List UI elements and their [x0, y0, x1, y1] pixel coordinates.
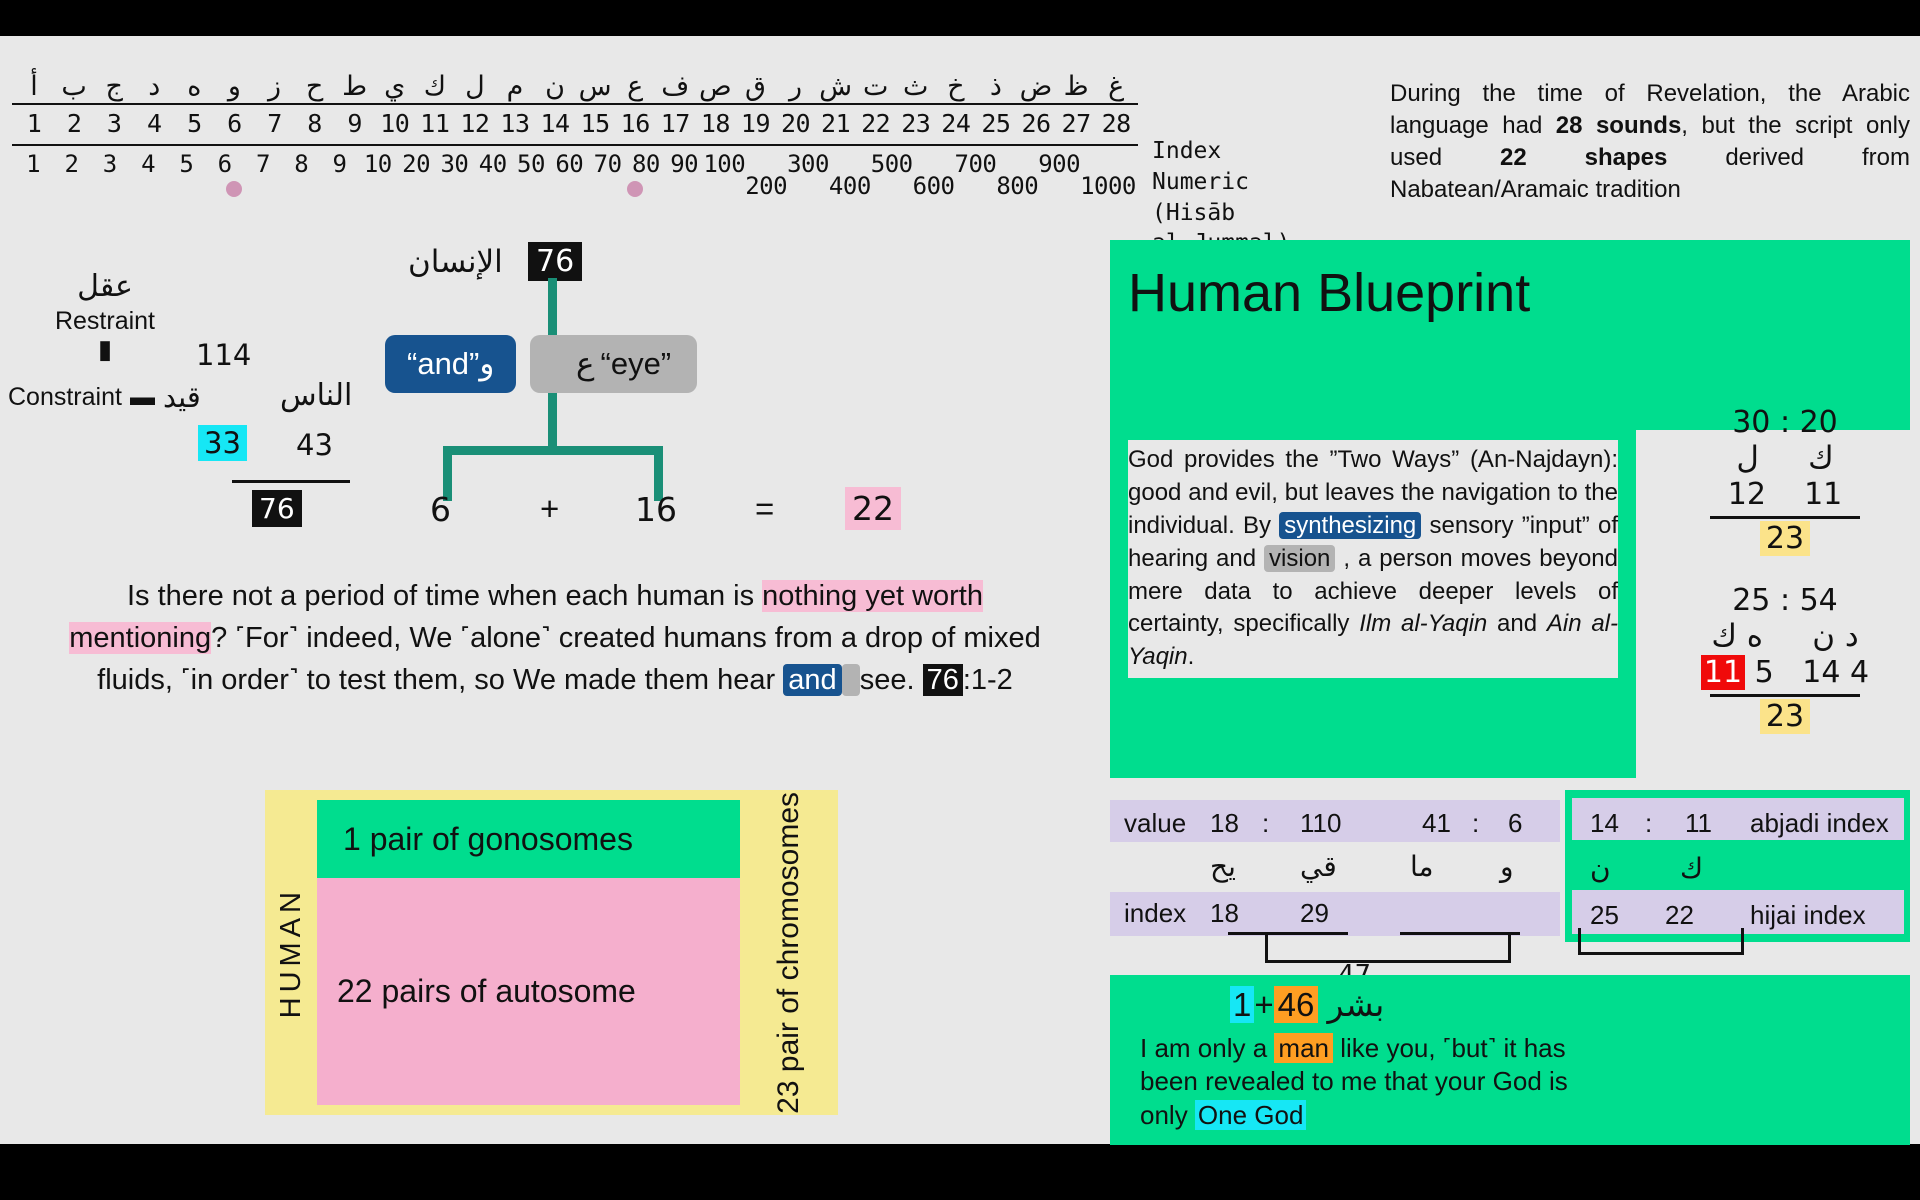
abjadi-index-label: abjadi index — [1750, 808, 1889, 839]
bottom-quote: I am only a man like you, ˹but˺ it has b… — [1140, 1032, 1610, 1132]
autosome-bar: 22 pairs of autosome — [317, 878, 740, 1105]
math-spacer — [1660, 557, 1910, 583]
mathblock2-values: 11 5 14 4 — [1660, 655, 1910, 690]
tree-equals-sign: = — [755, 490, 774, 528]
abjad-letter-1: ب — [54, 73, 94, 100]
restraint-label: Restraint — [10, 308, 200, 334]
sum-bracket-47 — [1265, 932, 1511, 963]
arabic-waw: و — [1500, 850, 1514, 883]
abjad-index-19: 20 — [775, 108, 815, 139]
abjad-index-18: 19 — [735, 108, 775, 139]
arabic-bashar: بشر — [1328, 985, 1385, 1024]
abjad-index-9: 10 — [375, 108, 415, 139]
arabic-nas: الناس — [280, 378, 352, 413]
abjad-index-16: 17 — [655, 108, 695, 139]
abjad-value-16: 80 — [627, 149, 665, 179]
abjad-letter-20: ش — [816, 73, 856, 100]
abjad-value-2: 3 — [91, 149, 129, 179]
legend-index-label: Index — [1152, 136, 1342, 167]
abjad-letter-14: س — [575, 73, 615, 100]
arabic-qaf-yaa: قي — [1300, 850, 1337, 883]
restraint-group: عقل Restraint ▮ — [10, 272, 200, 364]
abjad-letters-row: أبجدهوزحطيكلمنسعفصقرشتثخذضظغ — [10, 62, 1140, 100]
note-22-shapes: 22 shapes — [1500, 144, 1667, 171]
pill-eye-label: “eye” — [601, 346, 672, 381]
abjad-index-8: 9 — [335, 108, 375, 139]
abjad-letter-22: ث — [896, 73, 936, 100]
abjad-index-21: 22 — [856, 108, 896, 139]
body-part4: and — [1487, 610, 1547, 637]
constraint-label: Constraint — [8, 383, 122, 412]
blueprint-body-text: God provides the ”Two Ways” (An-Najdayn)… — [1128, 440, 1618, 678]
abjad-letter-15: ع — [615, 73, 655, 100]
abjad-value-0: 1 — [14, 149, 52, 179]
abjad-letter-2: ج — [94, 73, 134, 100]
abjad-value-26: 900 — [1038, 149, 1080, 179]
abjad-value-10: 20 — [397, 149, 435, 179]
pill-and[interactable]: “and”و — [385, 335, 516, 393]
abjad-letter-5: و — [214, 73, 254, 100]
abjad-index-12: 13 — [495, 108, 535, 139]
b1-colon: : — [1780, 405, 1790, 440]
chromosome-left-label: HUMAN — [265, 790, 317, 1115]
body-ilm-alyaqin: Ilm al-Yaqin — [1359, 610, 1487, 637]
verse-highlight-and: and — [783, 664, 841, 696]
abjad-value-7: 8 — [282, 149, 320, 179]
revelation-note: During the time of Revelation, the Arabi… — [1390, 78, 1910, 206]
abjad-index-6: 7 — [254, 108, 294, 139]
abjad-letter-3: د — [134, 73, 174, 100]
human-label: HUMAN — [275, 887, 308, 1018]
abjad-index-17: 18 — [695, 108, 735, 139]
abjad-value-15: 70 — [588, 149, 626, 179]
mathblock1-rule — [1710, 516, 1860, 519]
abjad-letter-21: ت — [856, 73, 896, 100]
tree-value-right: 16 — [635, 490, 677, 529]
abjad-letter-26: ظ — [1056, 73, 1096, 100]
mathblock2-top: 25 : 54 — [1660, 583, 1910, 618]
abjad-index-24: 25 — [976, 108, 1016, 139]
abjad-letter-9: ي — [375, 73, 415, 100]
tree-tag-76: 76 — [528, 242, 582, 281]
abjad-letter-10: ك — [415, 73, 455, 100]
arabic-maa: ما — [1410, 850, 1434, 883]
gonosome-bar: 1 pair of gonosomes — [317, 800, 740, 878]
mathblock1-arabic: ك ل — [1660, 440, 1910, 477]
abjad-index-4: 5 — [174, 108, 214, 139]
b1-top-left: 30 — [1732, 405, 1770, 440]
bashar-1: 1 — [1230, 986, 1254, 1023]
b1-top-right: 20 — [1800, 405, 1838, 440]
index-29: 29 — [1300, 898, 1329, 929]
chromosome-total-label: 23 pair of chromosomes — [772, 792, 806, 1114]
tree-stem-top — [548, 278, 557, 338]
abjad-index-26: 27 — [1056, 108, 1096, 139]
value-110: 110 — [1300, 808, 1341, 839]
top-black-bar — [0, 0, 1920, 36]
mathblock1-top: 30 : 20 — [1660, 405, 1910, 440]
abjad-numerology-table: أبجدهوزحطيكلمنسعفصقرشتثخذضظغ 12345678910… — [10, 62, 1140, 197]
infographic-canvas: أبجدهوزحطيكلمنسعفصقرشتثخذضظغ 12345678910… — [0, 0, 1920, 1200]
quote-highlight-onegod: One God — [1195, 1100, 1307, 1130]
abjad-letter-27: غ — [1096, 73, 1136, 100]
abjad-letter-24: ذ — [976, 73, 1016, 100]
abjad-letter-12: م — [495, 73, 535, 100]
hijai-bracket — [1578, 928, 1744, 955]
abjad-index-22: 23 — [896, 108, 936, 139]
value-6: 6 — [1508, 808, 1522, 839]
abjad-index-27: 28 — [1096, 108, 1136, 139]
b2-ar-left: ه ك — [1711, 618, 1763, 654]
abjad-letter-4: ه — [174, 73, 214, 100]
abjad-index-7: 8 — [295, 108, 335, 139]
value-33: 33 — [198, 425, 247, 461]
index-18: 18 — [1210, 898, 1239, 929]
mathblock2-rule — [1710, 694, 1860, 697]
abjadi-14: 14 — [1590, 808, 1619, 839]
b2-v3-14: 14 — [1802, 655, 1840, 690]
value-43: 43 — [296, 428, 333, 462]
tree-result-22: 22 — [845, 487, 901, 530]
verse-part1: Is there not a period of time when each … — [127, 580, 762, 612]
body-highlight-vision: vision — [1264, 545, 1335, 572]
b2-colon: : — [1780, 583, 1790, 618]
abjad-value-1: 2 — [52, 149, 90, 179]
abjadi-arabic-noon: ن — [1590, 852, 1611, 885]
abjad-numeric-row: 1234567891020304050607080901002003004005… — [10, 146, 1140, 181]
abjad-letter-23: خ — [936, 73, 976, 100]
abjad-value-20: 300 — [787, 149, 829, 179]
bashar-46: 46 — [1274, 986, 1319, 1023]
abjad-dot-6 — [226, 181, 242, 197]
mathblock1-total-wrap: 23 — [1660, 521, 1910, 556]
page-title: Human Blueprint — [1110, 240, 1910, 324]
abjad-value-5: 6 — [205, 149, 243, 179]
abjad-value-13: 50 — [512, 149, 550, 179]
b1-ar-right: ك — [1808, 440, 1834, 476]
restraint-tick-icon: ▮ — [10, 336, 200, 362]
index-label: index — [1124, 898, 1186, 929]
body-part5: . — [1188, 643, 1195, 670]
b2-v4-4: 4 — [1850, 655, 1869, 690]
abjad-dot-16 — [627, 181, 643, 197]
constraint-dash-icon: ▬ — [130, 383, 155, 412]
abjad-index-10: 11 — [415, 108, 455, 139]
abjad-value-6: 7 — [244, 149, 282, 179]
abjad-letter-7: ح — [295, 73, 335, 100]
abjad-letter-25: ض — [1016, 73, 1056, 100]
quote-part1: I am only a — [1140, 1033, 1274, 1063]
quote-highlight-man: man — [1274, 1033, 1333, 1063]
b2-v2-5: 5 — [1755, 655, 1774, 690]
abjad-value-18: 100 — [703, 149, 745, 179]
abjad-letter-17: ص — [695, 73, 735, 100]
abjad-index-0: 1 — [14, 108, 54, 139]
pill-eye[interactable]: ع“eye” — [530, 335, 697, 393]
abjad-value-3: 4 — [129, 149, 167, 179]
abjad-dot-markers — [10, 181, 1140, 197]
abjadi-11: 11 — [1685, 808, 1712, 839]
abjad-letter-13: ن — [535, 73, 575, 100]
b1-total-23: 23 — [1760, 521, 1810, 556]
bashar-equation: بشر 46+1 — [1230, 985, 1384, 1024]
b1-ar-left: ل — [1736, 440, 1759, 476]
quran-verse-76: Is there not a period of time when each … — [50, 575, 1060, 701]
abjad-letter-8: ط — [335, 73, 375, 100]
hijai-22: 22 — [1665, 900, 1694, 931]
note-28-sounds: 28 sounds — [1556, 112, 1682, 139]
arabic-yah-haa: يح — [1210, 850, 1236, 883]
verse-surah-number: 76 — [923, 664, 963, 696]
pill-eye-arabic: ع — [576, 346, 595, 382]
chromosome-right-label: 23 pair of chromosomes — [740, 790, 838, 1115]
mathblock2-total-wrap: 23 — [1660, 699, 1910, 734]
abjad-index-13: 14 — [535, 108, 575, 139]
abjad-index-2: 3 — [94, 108, 134, 139]
bashar-plus: + — [1254, 986, 1273, 1023]
value-colon-1: : — [1262, 808, 1269, 839]
b2-ar-right: د ن — [1812, 618, 1858, 654]
tree-value-left: 6 — [430, 490, 451, 529]
legend-numeric-label: Numeric (Hisāb — [1152, 167, 1342, 229]
b1-mid-right: 11 — [1804, 477, 1842, 512]
right-math-group: 30 : 20 ك ل 12 11 23 25 : 54 د ن ه ك — [1660, 405, 1910, 735]
b2-total-23: 23 — [1760, 699, 1810, 734]
verse-highlight-grey — [842, 664, 860, 696]
value-18: 18 — [1210, 808, 1239, 839]
abjadi-colon: : — [1645, 808, 1652, 839]
pill-and-arabic: و — [479, 346, 494, 382]
left-sum-76: 76 — [252, 490, 302, 527]
b2-top-right: 54 — [1800, 583, 1838, 618]
b2-v1-11: 11 — [1701, 655, 1745, 690]
abjad-index-row: 1234567891011121314151617181920212223242… — [10, 105, 1140, 141]
abjad-index-14: 15 — [575, 108, 615, 139]
abjad-value-22: 500 — [871, 149, 913, 179]
abjad-index-11: 12 — [455, 108, 495, 139]
abjadi-arabic-kaf: ك — [1680, 852, 1703, 885]
tree-bar-horizontal — [443, 446, 663, 455]
abjad-index-1: 2 — [54, 108, 94, 139]
constraint-group: Constraint ▬ قيد — [8, 380, 268, 414]
arabic-qayd: قيد — [163, 380, 201, 414]
pill-and-label: “and” — [407, 346, 479, 381]
body-highlight-synthesizing: synthesizing — [1279, 512, 1421, 539]
value-colon-2: : — [1472, 808, 1479, 839]
hijai-index-label: hijai index — [1750, 900, 1866, 931]
value-label: value — [1124, 808, 1186, 839]
abjad-value-9: 10 — [359, 149, 397, 179]
left-sum-rule — [232, 480, 350, 483]
arabic-aql: عقل — [10, 272, 200, 302]
b2-top-left: 25 — [1732, 583, 1770, 618]
abjad-letter-19: ر — [775, 73, 815, 100]
abjad-letter-0: أ — [14, 73, 54, 100]
chromosome-diagram: HUMAN 1 pair of gonosomes 22 pairs of au… — [265, 790, 838, 1115]
abjad-value-11: 30 — [435, 149, 473, 179]
abjad-value-14: 60 — [550, 149, 588, 179]
abjad-index-3: 4 — [134, 108, 174, 139]
abjad-letter-16: ف — [655, 73, 695, 100]
bottom-black-bar — [0, 1144, 1920, 1200]
abjad-letter-11: ل — [455, 73, 495, 100]
abjad-value-24: 700 — [955, 149, 997, 179]
abjad-letter-6: ز — [254, 73, 294, 100]
mathblock2-arabic: د ن ه ك — [1660, 618, 1910, 655]
abjad-value-12: 40 — [474, 149, 512, 179]
hijai-25: 25 — [1590, 900, 1619, 931]
abjad-index-23: 24 — [936, 108, 976, 139]
verse-part3: see. — [860, 664, 923, 696]
abjad-value-17: 90 — [665, 149, 703, 179]
value-114: 114 — [196, 338, 251, 372]
abjad-value-4: 5 — [167, 149, 205, 179]
abjad-index-5: 6 — [214, 108, 254, 139]
abjad-index-25: 26 — [1016, 108, 1056, 139]
chromosome-bars: 1 pair of gonosomes 22 pairs of autosome — [317, 800, 740, 1105]
abjad-letter-18: ق — [735, 73, 775, 100]
verse-ayah-range: :1-2 — [963, 664, 1013, 696]
arabic-insan: الإنسان — [408, 244, 503, 280]
b1-mid-left: 12 — [1728, 477, 1766, 512]
mathblock1-mid: 12 11 — [1660, 477, 1910, 512]
abjad-index-15: 16 — [615, 108, 655, 139]
tree-plus-sign: + — [540, 490, 559, 528]
value-41: 41 — [1422, 808, 1451, 839]
tree-stem-mid — [548, 392, 557, 452]
blueprint-header-panel: Human Blueprint — [1110, 240, 1910, 430]
abjad-index-20: 21 — [816, 108, 856, 139]
abjad-value-8: 9 — [320, 149, 358, 179]
